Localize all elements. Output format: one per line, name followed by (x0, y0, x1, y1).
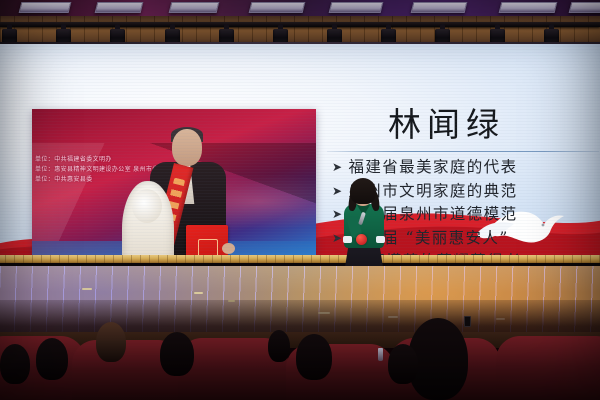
floor-marker (82, 288, 92, 290)
auditorium-stage-photo: 单位：中共福建省委文明办 单位：惠安县精神文明建设办公室 泉州市委文明办 单位：… (0, 0, 600, 400)
water-bottle (378, 348, 383, 361)
audience-head (96, 322, 126, 362)
title-divider-rule (327, 151, 599, 152)
audience-head (160, 332, 194, 376)
ceiling-light-panel (411, 2, 468, 13)
audience-head (296, 334, 332, 380)
floor-marker (194, 292, 203, 294)
presenter-hair (350, 178, 376, 204)
ceiling-light-panel (249, 2, 306, 13)
slide-bullet-text: 福建省最美家庭的代表 (348, 156, 517, 179)
presenter-cuff-right (376, 236, 385, 243)
auditorium-seat (496, 336, 600, 400)
presenter-cuff-left (343, 236, 352, 243)
audience-head (268, 330, 290, 362)
audience-head (388, 344, 418, 384)
ceiling-light-panel (569, 2, 600, 13)
ceiling-light-panel (499, 2, 558, 13)
ceiling-light-panel (95, 2, 144, 13)
led-screen: 单位：中共福建省委文明办 单位：惠安县精神文明建设办公室 泉州市委文明办 单位：… (0, 44, 600, 260)
honoree-hand (222, 243, 235, 254)
ceiling-light-panel (19, 2, 72, 13)
bullet-arrow-icon: ➤ (332, 156, 343, 179)
audience-head (0, 344, 30, 384)
audience-head (36, 338, 68, 380)
ceiling-light-panel (329, 2, 384, 13)
honoree-head (172, 129, 202, 166)
presenter-badge (356, 234, 367, 245)
phone-icon (464, 316, 471, 327)
lighting-truss (0, 22, 600, 27)
slide-bullet-row: ➤福建省最美家庭的代表 (332, 156, 598, 180)
slide-title: 林闻绿 (388, 106, 505, 144)
ceiling-light-panel (169, 2, 220, 13)
